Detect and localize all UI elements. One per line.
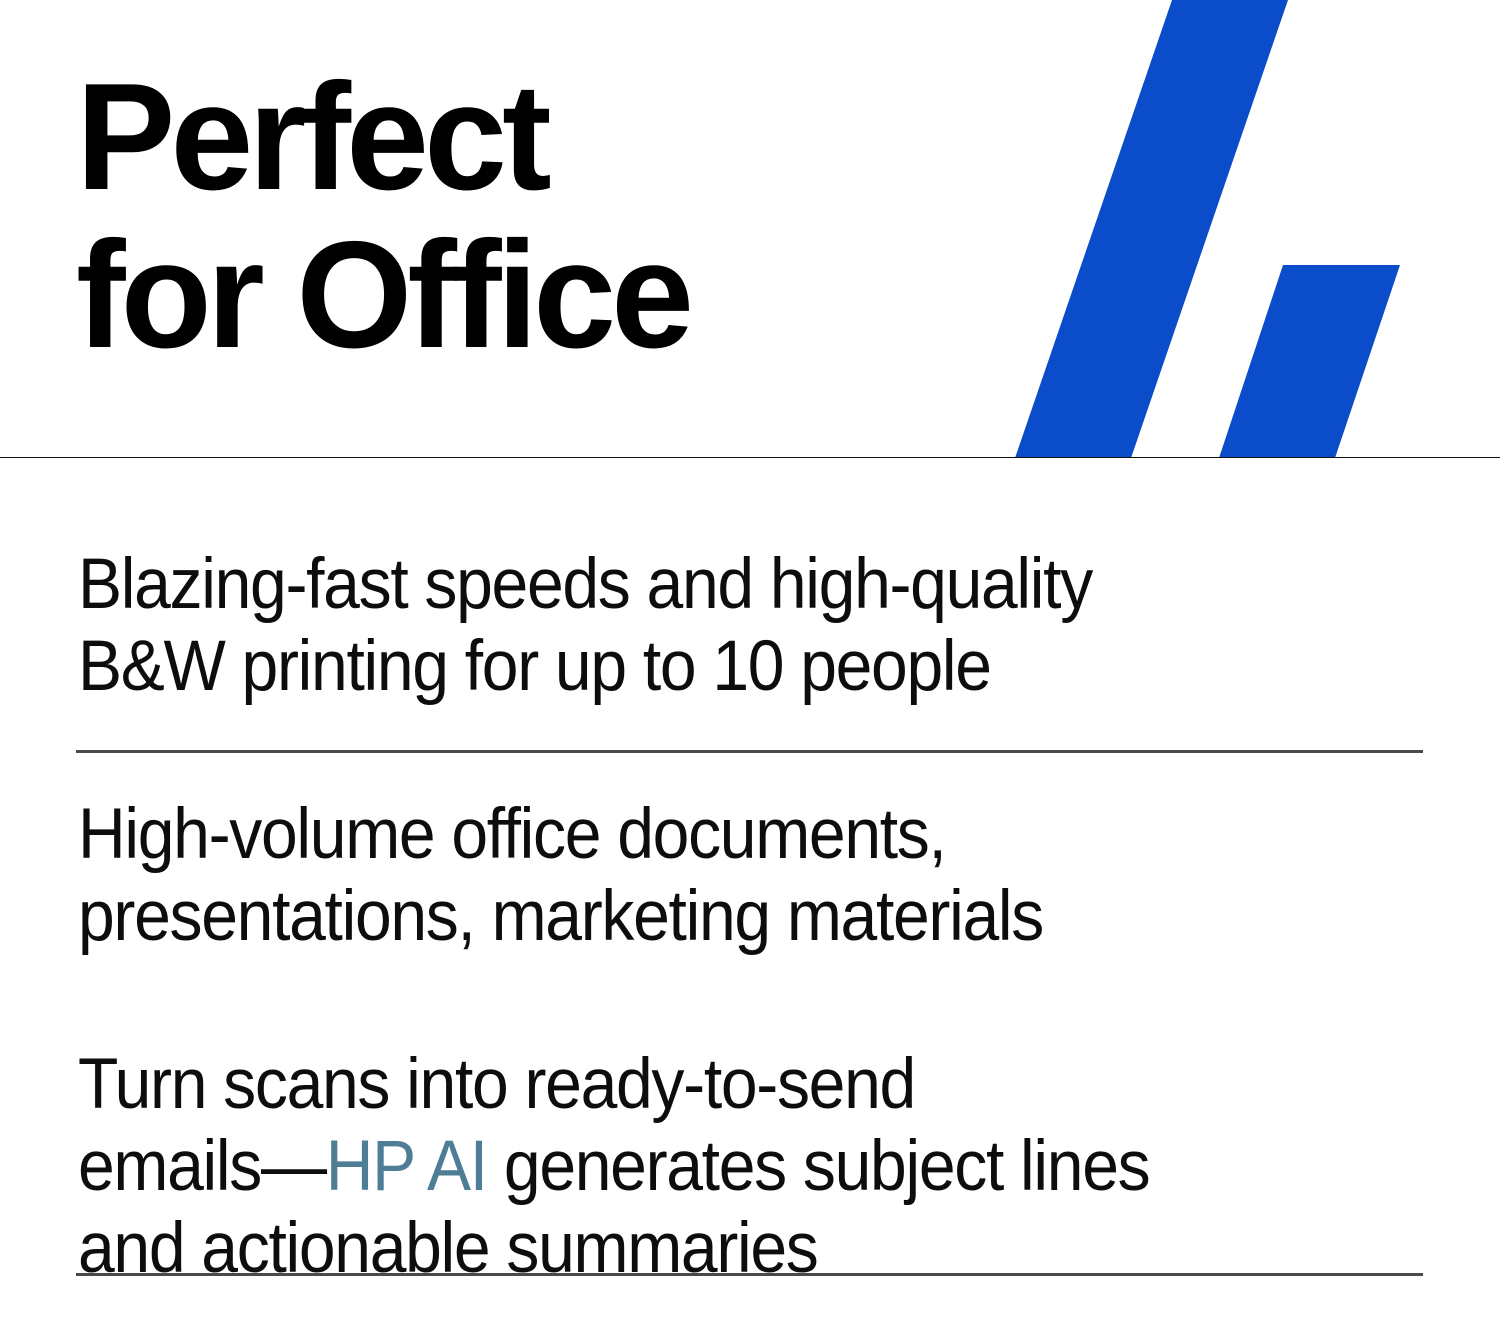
feature-text-speed-quality: Blazing-fast speeds and high-quality B&W… [78, 544, 1400, 708]
feature-list: Blazing-fast speeds and high-quality B&W… [0, 462, 1500, 1290]
list-item: Blazing-fast speeds and high-quality B&W… [0, 462, 1500, 708]
poster-header: Perfect for Office [0, 0, 1500, 458]
brand-bar-left [1015, 0, 1288, 458]
product-feature-poster: Perfect for Office Blazing-fast speeds a… [0, 0, 1500, 1321]
hp-ai-accent-label: HP AI [326, 1127, 487, 1206]
list-item: Turn scans into ready-to-send emails—HP … [0, 958, 1500, 1290]
page-title: Perfect for Office [76, 58, 689, 374]
feature-text-hp-ai-scan: Turn scans into ready-to-send emails—HP … [78, 1044, 1400, 1290]
brand-bar-right [1219, 265, 1400, 458]
list-item: High-volume office documents, presentati… [0, 708, 1500, 958]
header-bottom-rule [0, 457, 1500, 458]
feature-text-use-cases: High-volume office documents, presentati… [78, 794, 1400, 958]
